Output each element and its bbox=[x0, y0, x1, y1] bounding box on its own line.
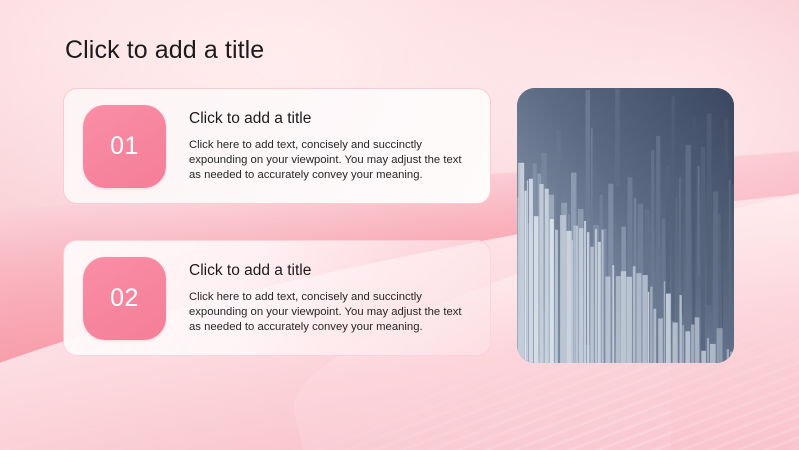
number-badge-02: 02 bbox=[83, 257, 166, 340]
content-card-02[interactable]: 02 Click to add a title Click here to ad… bbox=[63, 240, 491, 356]
content-card-01[interactable]: 01 Click to add a title Click here to ad… bbox=[63, 88, 491, 204]
number-badge-01: 01 bbox=[83, 105, 166, 188]
card-text-block: Click to add a title Click here to add t… bbox=[189, 261, 483, 336]
card-text-block: Click to add a title Click here to add t… bbox=[189, 109, 483, 184]
background-stripes-left bbox=[0, 360, 352, 450]
card-body-text[interactable]: Click here to add text, concisely and su… bbox=[189, 290, 469, 336]
badge-number-label: 02 bbox=[110, 286, 139, 311]
card-title[interactable]: Click to add a title bbox=[189, 109, 469, 129]
badge-number-label: 01 bbox=[110, 134, 139, 159]
presentation-slide: Click to add a title 01 Click to add a t… bbox=[0, 0, 799, 450]
abstract-vertical-bars-image[interactable] bbox=[517, 88, 734, 363]
page-title[interactable]: Click to add a title bbox=[65, 34, 264, 66]
card-title[interactable]: Click to add a title bbox=[189, 261, 469, 281]
card-body-text[interactable]: Click here to add text, concisely and su… bbox=[189, 138, 469, 184]
